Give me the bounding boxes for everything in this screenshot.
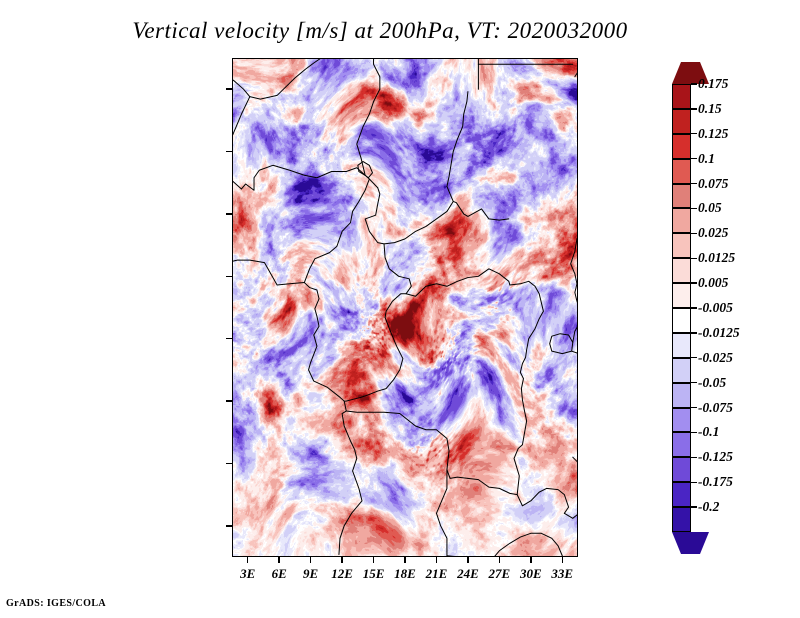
colorbar: 0.1750.150.1250.10.0750.050.0250.01250.0…: [672, 62, 691, 554]
colorbar-tick-label: 0.1: [698, 151, 715, 167]
colorbar-tick-label: 0.175: [698, 76, 728, 92]
vertical-velocity-heatmap: [232, 58, 578, 557]
colorbar-segment: [672, 383, 691, 408]
x-axis-tick-label: 21E: [426, 566, 448, 582]
colorbar-tick-label: -0.05: [698, 375, 726, 391]
x-axis-tick-mark: [247, 557, 249, 563]
colorbar-segment: [672, 457, 691, 482]
x-axis-tick-label: 24E: [457, 566, 479, 582]
x-axis-tick-label: 27E: [489, 566, 511, 582]
colorbar-tick-label: -0.125: [698, 449, 733, 465]
colorbar-segment: [672, 507, 691, 532]
y-axis-tick-mark: [226, 463, 232, 465]
colorbar-tick-label: 0.025: [698, 225, 728, 241]
colorbar-tick-label: -0.0125: [698, 325, 740, 341]
footer-credit: GrADS: IGES/COLA: [6, 598, 106, 609]
x-axis-tick-mark: [499, 557, 501, 563]
colorbar-segment: [672, 358, 691, 383]
colorbar-tick-label: 0.15: [698, 101, 722, 117]
x-axis-tick-mark: [467, 557, 469, 563]
x-axis-tick-mark: [278, 557, 280, 563]
colorbar-tick-mark: [691, 382, 697, 383]
colorbar-tick-mark: [691, 208, 697, 209]
colorbar-tick-mark: [691, 482, 697, 483]
colorbar-min-arrow: [672, 532, 709, 554]
page-title: Vertical velocity [m/s] at 200hPa, VT: 2…: [0, 18, 760, 44]
colorbar-segment: [672, 159, 691, 184]
x-axis-tick-label: 6E: [272, 566, 287, 582]
x-axis-tick-label: 18E: [394, 566, 416, 582]
x-axis-tick-mark: [436, 557, 438, 563]
colorbar-segment: [672, 432, 691, 457]
colorbar-tick-mark: [691, 183, 697, 184]
x-axis-tick-mark: [404, 557, 406, 563]
colorbar-tick-label: 0.0125: [698, 250, 735, 266]
colorbar-tick-label: -0.2: [698, 499, 719, 515]
x-axis-tick-label: 33E: [551, 566, 573, 582]
y-axis-tick-mark: [226, 400, 232, 402]
colorbar-tick-label: -0.025: [698, 350, 733, 366]
colorbar-tick-mark: [691, 506, 697, 507]
colorbar-tick-label: 0.075: [698, 176, 728, 192]
colorbar-tick-mark: [691, 332, 697, 333]
colorbar-segment: [672, 233, 691, 258]
x-axis-tick-label: 15E: [363, 566, 385, 582]
colorbar-tick-label: -0.005: [698, 300, 733, 316]
colorbar-tick-mark: [691, 258, 697, 259]
map-plot-area: [232, 58, 578, 557]
colorbar-tick-mark: [691, 357, 697, 358]
x-axis-tick-label: 9E: [303, 566, 318, 582]
colorbar-tick-mark: [691, 307, 697, 308]
colorbar-segment: [672, 283, 691, 308]
y-axis-tick-mark: [226, 88, 232, 90]
y-axis-tick-mark: [226, 525, 232, 527]
colorbar-tick-label: 0.005: [698, 275, 728, 291]
colorbar-tick-mark: [691, 457, 697, 458]
colorbar-tick-label: -0.075: [698, 400, 733, 416]
colorbar-tick-mark: [691, 432, 697, 433]
colorbar-segment: [672, 109, 691, 134]
y-axis-tick-mark: [226, 338, 232, 340]
colorbar-tick-label: -0.175: [698, 474, 733, 490]
x-axis-tick-mark: [562, 557, 564, 563]
y-axis-tick-mark: [226, 151, 232, 153]
x-axis-tick-mark: [341, 557, 343, 563]
colorbar-tick-mark: [691, 83, 697, 84]
colorbar-segment: [672, 184, 691, 209]
x-axis-tick-mark: [373, 557, 375, 563]
colorbar-tick-mark: [691, 407, 697, 408]
colorbar-tick-mark: [691, 158, 697, 159]
x-axis-tick-label: 3E: [240, 566, 255, 582]
colorbar-tick-mark: [691, 108, 697, 109]
colorbar-segment: [672, 208, 691, 233]
colorbar-tick-label: 0.05: [698, 200, 722, 216]
x-axis-tick-label: 30E: [520, 566, 542, 582]
y-axis-tick-mark: [226, 276, 232, 278]
colorbar-segment: [672, 482, 691, 507]
colorbar-tick-label: 0.125: [698, 126, 728, 142]
colorbar-tick-mark: [691, 133, 697, 134]
colorbar-segment: [672, 134, 691, 159]
colorbar-segment: [672, 308, 691, 333]
colorbar-segment: [672, 333, 691, 358]
colorbar-segment: [672, 408, 691, 433]
x-axis-tick-mark: [530, 557, 532, 563]
colorbar-segment: [672, 258, 691, 283]
x-axis-tick-label: 12E: [331, 566, 353, 582]
x-axis-tick-mark: [310, 557, 312, 563]
colorbar-tick-mark: [691, 282, 697, 283]
colorbar-tick-mark: [691, 233, 697, 234]
y-axis-tick-mark: [226, 213, 232, 215]
colorbar-tick-label: -0.1: [698, 424, 719, 440]
colorbar-segment: [672, 84, 691, 109]
